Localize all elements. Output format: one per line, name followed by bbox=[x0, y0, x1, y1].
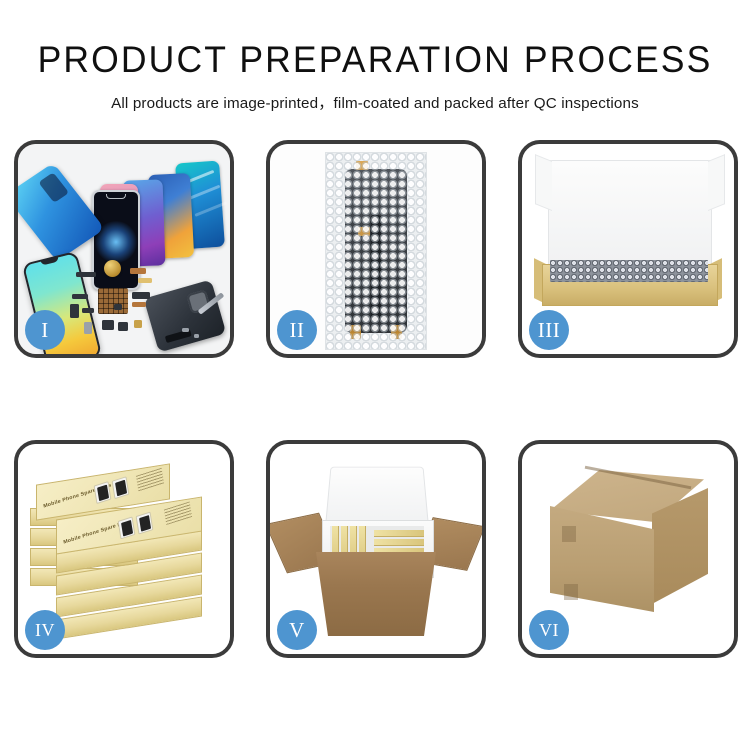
packed-retail-box-6 bbox=[374, 539, 424, 546]
part-flex-cable-a bbox=[130, 268, 146, 274]
carton-tab-lower-icon bbox=[564, 584, 578, 600]
part-connector-b bbox=[70, 304, 79, 318]
retail-box-spec-text-1 bbox=[136, 468, 164, 492]
step-4-badge: IV bbox=[25, 610, 65, 650]
step-5-badge: V bbox=[277, 610, 317, 650]
step-1-badge: I bbox=[25, 310, 65, 350]
speaker-module-icon bbox=[104, 260, 121, 277]
retail-box-window-2a bbox=[118, 516, 136, 539]
carton-tab-upper-icon bbox=[562, 526, 576, 542]
part-sim-tray bbox=[84, 322, 92, 334]
retail-box-window-1b bbox=[112, 476, 130, 499]
step-3-badge: III bbox=[529, 310, 569, 350]
bubble-wrap-bag-icon bbox=[325, 152, 427, 350]
retail-box-window-1a bbox=[94, 481, 112, 504]
part-flex-cable-b bbox=[138, 278, 152, 283]
part-taptic-engine bbox=[102, 320, 114, 330]
bubble-wrap-fill-icon bbox=[550, 260, 708, 282]
process-step-grid: I II bbox=[0, 140, 750, 658]
step-6-badge: VI bbox=[529, 610, 569, 650]
retail-box-spec-text-2 bbox=[164, 501, 192, 525]
process-step-panel-2[interactable]: II bbox=[266, 140, 486, 358]
page-title: PRODUCT PREPARATION PROCESS bbox=[15, 38, 735, 82]
process-step-panel-1[interactable]: I bbox=[14, 140, 234, 358]
page-header: PRODUCT PREPARATION PROCESS All products… bbox=[0, 0, 750, 113]
process-row-bottom: Mobile Phone Spare Parts Mobile Phone Sp… bbox=[0, 440, 750, 658]
part-battery-strip bbox=[76, 272, 96, 277]
process-step-panel-4[interactable]: Mobile Phone Spare Parts Mobile Phone Sp… bbox=[14, 440, 234, 658]
part-camera-module bbox=[132, 292, 150, 299]
part-vibrator bbox=[118, 322, 128, 331]
part-antenna-strip bbox=[132, 302, 146, 307]
part-button-flex bbox=[114, 304, 122, 310]
phone-notch-icon bbox=[106, 194, 126, 199]
retail-box-window-2b bbox=[136, 512, 154, 535]
process-row-top: I II bbox=[0, 140, 750, 358]
process-step-panel-5[interactable]: V bbox=[266, 440, 486, 658]
logic-board-icon bbox=[98, 288, 128, 314]
part-connector-a bbox=[72, 294, 88, 299]
step-2-badge: II bbox=[277, 310, 317, 350]
part-connector-c bbox=[82, 308, 94, 313]
process-step-panel-3[interactable]: III bbox=[518, 140, 738, 358]
packed-retail-box-5 bbox=[374, 530, 424, 537]
part-screw-set bbox=[134, 320, 142, 328]
open-box-lid-icon bbox=[548, 160, 712, 272]
part-screw-a bbox=[182, 328, 189, 332]
foam-box-lid-icon bbox=[325, 467, 429, 525]
bubble-texture bbox=[326, 153, 426, 349]
part-screw-b bbox=[194, 334, 199, 338]
carton-body-icon bbox=[316, 552, 436, 636]
process-step-panel-6[interactable]: VI bbox=[518, 440, 738, 658]
page-subtitle: All products are image-printed，film-coat… bbox=[0, 91, 750, 113]
